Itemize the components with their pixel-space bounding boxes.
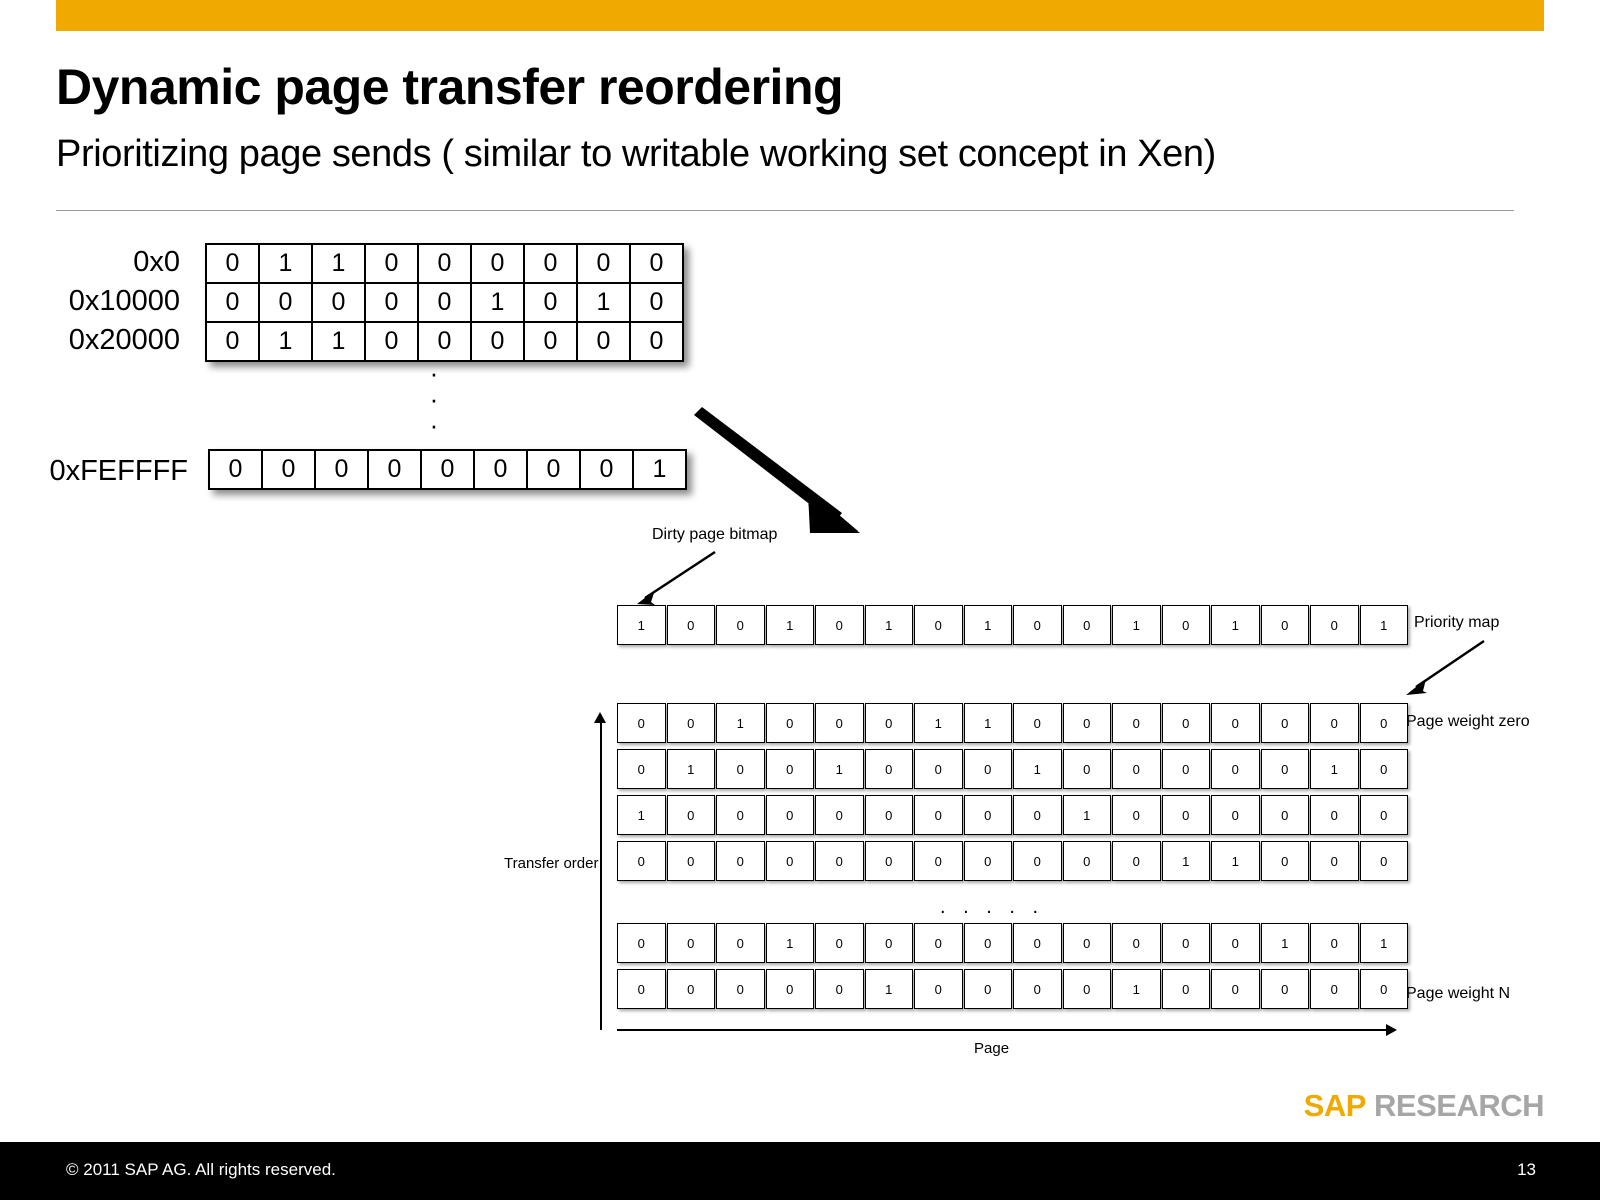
- bit-cell: 0: [1013, 795, 1062, 835]
- bit-cell: 0: [617, 969, 666, 1009]
- bit-cell: 0: [914, 841, 963, 881]
- bit-cell: 1: [1013, 749, 1062, 789]
- bit-cell: 0: [1211, 969, 1260, 1009]
- bit-cell: 0: [716, 795, 765, 835]
- bit-cell: 0: [1162, 605, 1211, 645]
- bit-cell: 1: [1112, 969, 1161, 1009]
- bit-cell: 1: [633, 450, 686, 489]
- bit-cell: 1: [815, 749, 864, 789]
- bit-cell: 0: [914, 969, 963, 1009]
- bit-cell: 0: [766, 703, 815, 743]
- bitmap-address-label: 0x20000: [0, 321, 195, 360]
- axis-label-page: Page: [974, 1040, 1009, 1057]
- bit-cell: 0: [1162, 969, 1211, 1009]
- bit-cell: 0: [365, 322, 418, 361]
- footer-page-number: 13: [1517, 1160, 1536, 1180]
- page-axis-arrowhead-icon: [1386, 1024, 1397, 1036]
- table-row: 0 1 1 0 0 0 0 0 0: [206, 322, 683, 361]
- weight-matrix-row: 0 0 0 1 0 0 0 0 0 0 0 0 0 1 0 1: [617, 923, 1408, 963]
- bit-cell: 0: [1063, 605, 1112, 645]
- weight-matrix-row: 0 0 1 0 0 0 1 1 0 0 0 0 0 0 0 0: [617, 703, 1408, 743]
- bit-cell: 0: [815, 795, 864, 835]
- bitmap-address-label-last: 0xFEFFFF: [0, 452, 200, 491]
- weight-matrix-row: 0 1 0 0 1 0 0 0 1 0 0 0 0 0 1 0: [617, 749, 1408, 789]
- bit-cell: 0: [368, 450, 421, 489]
- bit-cell: 0: [815, 605, 864, 645]
- bit-cell: 0: [524, 322, 577, 361]
- bit-cell: 0: [365, 283, 418, 322]
- page-axis-line: [617, 1029, 1390, 1031]
- bit-cell: 0: [1112, 841, 1161, 881]
- bit-cell: 0: [964, 841, 1013, 881]
- bit-cell: 0: [1310, 795, 1359, 835]
- bit-cell: 1: [471, 283, 524, 322]
- axis-label-transfer-order: Transfer order: [504, 855, 598, 872]
- bit-cell: 0: [1063, 923, 1112, 963]
- bit-cell: 0: [1261, 841, 1310, 881]
- bit-cell: 0: [964, 795, 1013, 835]
- bit-cell: 1: [259, 244, 312, 283]
- top-accent-bar: [56, 0, 1544, 31]
- ellipsis-dot: ·: [424, 412, 444, 438]
- bit-cell: 0: [1063, 841, 1112, 881]
- weight-matrix-row: 0 0 0 0 0 1 0 0 0 0 1 0 0 0 0 0: [617, 969, 1408, 1009]
- bit-cell: 0: [667, 841, 716, 881]
- bit-cell: 0: [667, 969, 716, 1009]
- bit-cell: 0: [667, 605, 716, 645]
- sap-research-logo: SAP RESEARCH: [1304, 1088, 1544, 1124]
- page-title: Dynamic page transfer reordering: [56, 58, 843, 116]
- bit-cell: 0: [630, 283, 683, 322]
- bit-cell: 0: [1360, 795, 1409, 835]
- bit-cell: 1: [865, 605, 914, 645]
- bit-cell: 0: [1310, 969, 1359, 1009]
- bitmap-address-label: 0x0: [0, 243, 195, 282]
- bit-cell: 0: [630, 322, 683, 361]
- bit-cell: 1: [1360, 923, 1409, 963]
- bit-cell: 1: [1211, 605, 1260, 645]
- weight-matrix-row: 0 0 0 0 0 0 0 0 0 0 0 1 1 0 0 0: [617, 841, 1408, 881]
- bit-cell: 0: [1360, 969, 1409, 1009]
- priority-map-strip: 1 0 0 1 0 1 0 1 0 0 1 0 1 0 0 1: [617, 605, 1408, 645]
- bit-cell: 0: [667, 703, 716, 743]
- bit-cell: 0: [914, 795, 963, 835]
- bit-cell: 0: [1211, 795, 1260, 835]
- label-page-weight-zero: Page weight zero: [1406, 713, 1530, 731]
- footer-copyright: © 2011 SAP AG. All rights reserved.: [66, 1160, 336, 1180]
- bit-cell: 0: [1211, 923, 1260, 963]
- bit-cell: 0: [1013, 703, 1062, 743]
- bit-cell: 0: [865, 795, 914, 835]
- bit-cell: 0: [1112, 923, 1161, 963]
- bit-cell: 0: [964, 923, 1013, 963]
- bit-cell: 1: [667, 749, 716, 789]
- bit-cell: 0: [1261, 605, 1310, 645]
- bit-cell: 0: [766, 749, 815, 789]
- bit-cell: 0: [1013, 841, 1062, 881]
- bit-cell: 0: [1063, 969, 1112, 1009]
- bit-cell: 0: [527, 450, 580, 489]
- bit-cell: 1: [1310, 749, 1359, 789]
- bit-cell: 0: [1063, 749, 1112, 789]
- bit-cell: 0: [577, 322, 630, 361]
- bit-cell: 0: [209, 450, 262, 489]
- transfer-order-axis-line: [600, 715, 602, 1030]
- bit-cell: 0: [474, 450, 527, 489]
- bit-cell: 1: [617, 605, 666, 645]
- bit-cell: 1: [865, 969, 914, 1009]
- bit-cell: 0: [716, 749, 765, 789]
- dirty-bitmap-caption: Dirty page bitmap: [652, 526, 777, 544]
- bit-cell: 0: [617, 749, 666, 789]
- bit-cell: 0: [716, 605, 765, 645]
- bit-cell: 1: [312, 322, 365, 361]
- bit-cell: 0: [667, 923, 716, 963]
- bit-cell: 0: [524, 283, 577, 322]
- bit-cell: 0: [1162, 795, 1211, 835]
- bit-cell: 0: [1162, 923, 1211, 963]
- table-row: 0 1 1 0 0 0 0 0 0: [206, 244, 683, 283]
- bit-cell: 0: [1310, 841, 1359, 881]
- bit-cell: 1: [914, 703, 963, 743]
- bit-cell: 0: [259, 283, 312, 322]
- bit-cell: 0: [1211, 749, 1260, 789]
- bit-cell: 1: [259, 322, 312, 361]
- bit-cell: 0: [471, 244, 524, 283]
- bit-cell: 0: [617, 923, 666, 963]
- bit-cell: 0: [365, 244, 418, 283]
- table-row: 0 0 0 0 0 1 0 1 0: [206, 283, 683, 322]
- transform-arrow-icon: [690, 405, 880, 540]
- priority-map-pointer-icon: [1396, 635, 1496, 700]
- bit-cell: 0: [1261, 795, 1310, 835]
- bit-cell: 0: [1013, 969, 1062, 1009]
- bit-cell: 0: [206, 244, 259, 283]
- bit-cell: 0: [766, 841, 815, 881]
- bit-cell: 0: [1063, 703, 1112, 743]
- logo-sap-text: SAP: [1304, 1088, 1366, 1123]
- bit-cell: 0: [1112, 795, 1161, 835]
- bit-cell: 0: [617, 703, 666, 743]
- bit-cell: 0: [1211, 703, 1260, 743]
- bit-cell: 0: [865, 703, 914, 743]
- ellipsis-dot: ·: [424, 360, 444, 386]
- bit-cell: 0: [1310, 605, 1359, 645]
- bit-cell: 0: [815, 923, 864, 963]
- bit-cell: 0: [716, 841, 765, 881]
- bit-cell: 0: [1162, 749, 1211, 789]
- bit-cell: 0: [524, 244, 577, 283]
- bit-cell: 0: [1112, 749, 1161, 789]
- bit-cell: 0: [1360, 749, 1409, 789]
- bit-cell: 0: [914, 605, 963, 645]
- bit-cell: 0: [262, 450, 315, 489]
- bit-cell: 0: [418, 322, 471, 361]
- bit-cell: 1: [577, 283, 630, 322]
- transfer-order-axis-arrowhead-icon: [594, 712, 606, 723]
- bit-cell: 0: [716, 923, 765, 963]
- bit-cell: 1: [716, 703, 765, 743]
- bit-cell: 0: [766, 795, 815, 835]
- bit-cell: 1: [964, 605, 1013, 645]
- label-priority-map: Priority map: [1414, 614, 1499, 632]
- bit-cell: 0: [964, 969, 1013, 1009]
- vertical-ellipsis: · · ·: [424, 360, 444, 438]
- table-row: 0 0 0 0 0 0 0 0 1: [209, 450, 686, 489]
- bit-cell: 0: [1162, 703, 1211, 743]
- bit-cell: 0: [1013, 605, 1062, 645]
- bit-cell: 1: [964, 703, 1013, 743]
- bitmap-address-labels: 0x0 0x10000 0x20000: [0, 243, 195, 360]
- bit-cell: 0: [1013, 923, 1062, 963]
- bit-cell: 1: [1211, 841, 1260, 881]
- bit-cell: 0: [315, 450, 368, 489]
- bit-cell: 1: [1112, 605, 1161, 645]
- bit-cell: 0: [418, 283, 471, 322]
- dirty-bitmap-pointer-icon: [625, 548, 725, 608]
- bit-cell: 0: [1310, 703, 1359, 743]
- bit-cell: 0: [865, 749, 914, 789]
- bit-cell: 1: [617, 795, 666, 835]
- bit-cell: 0: [1261, 703, 1310, 743]
- bit-cell: 0: [865, 841, 914, 881]
- weight-matrix-row: 1 0 0 0 0 0 0 0 0 1 0 0 0 0 0 0: [617, 795, 1408, 835]
- bit-cell: 0: [312, 283, 365, 322]
- bit-cell: 0: [815, 969, 864, 1009]
- label-page-weight-n: Page weight N: [1406, 985, 1510, 1003]
- dirty-page-bitmap-table: 0 1 1 0 0 0 0 0 0 0 0 0 0 0 1 0 1 0 0 1 …: [205, 243, 684, 362]
- bit-cell: 1: [766, 923, 815, 963]
- bit-cell: 0: [716, 969, 765, 1009]
- bit-cell: 0: [580, 450, 633, 489]
- dirty-page-bitmap-last-row: 0 0 0 0 0 0 0 0 1: [208, 449, 687, 490]
- ellipsis-dot: ·: [424, 386, 444, 412]
- bit-cell: 0: [1360, 841, 1409, 881]
- bit-cell: 0: [471, 322, 524, 361]
- bit-cell: 0: [865, 923, 914, 963]
- bit-cell: 0: [421, 450, 474, 489]
- bit-cell: 0: [617, 841, 666, 881]
- bit-cell: 0: [914, 923, 963, 963]
- bit-cell: 0: [1261, 969, 1310, 1009]
- bit-cell: 0: [667, 795, 716, 835]
- bit-cell: 1: [1261, 923, 1310, 963]
- bit-cell: 0: [766, 969, 815, 1009]
- bit-cell: 0: [1112, 703, 1161, 743]
- page-subtitle: Prioritizing page sends ( similar to wri…: [56, 133, 1216, 176]
- footer-bar: © 2011 SAP AG. All rights reserved. 13: [0, 1142, 1600, 1200]
- bit-cell: 0: [1310, 923, 1359, 963]
- bit-cell: 1: [766, 605, 815, 645]
- bitmap-address-label: 0x10000: [0, 282, 195, 321]
- bit-cell: 0: [964, 749, 1013, 789]
- logo-research-text: RESEARCH: [1374, 1088, 1544, 1123]
- bit-cell: 0: [206, 322, 259, 361]
- header-divider: [56, 210, 1514, 211]
- bit-cell: 0: [577, 244, 630, 283]
- bit-cell: 0: [418, 244, 471, 283]
- bit-cell: 1: [312, 244, 365, 283]
- bit-cell: 0: [206, 283, 259, 322]
- bit-cell: 0: [1360, 703, 1409, 743]
- bit-cell: 1: [1063, 795, 1112, 835]
- bit-cell: 0: [1261, 749, 1310, 789]
- bit-cell: 0: [914, 749, 963, 789]
- bit-cell: 0: [815, 841, 864, 881]
- bit-cell: 0: [815, 703, 864, 743]
- matrix-ellipsis: . . . . .: [940, 896, 1044, 919]
- bit-cell: 1: [1162, 841, 1211, 881]
- bit-cell: 0: [630, 244, 683, 283]
